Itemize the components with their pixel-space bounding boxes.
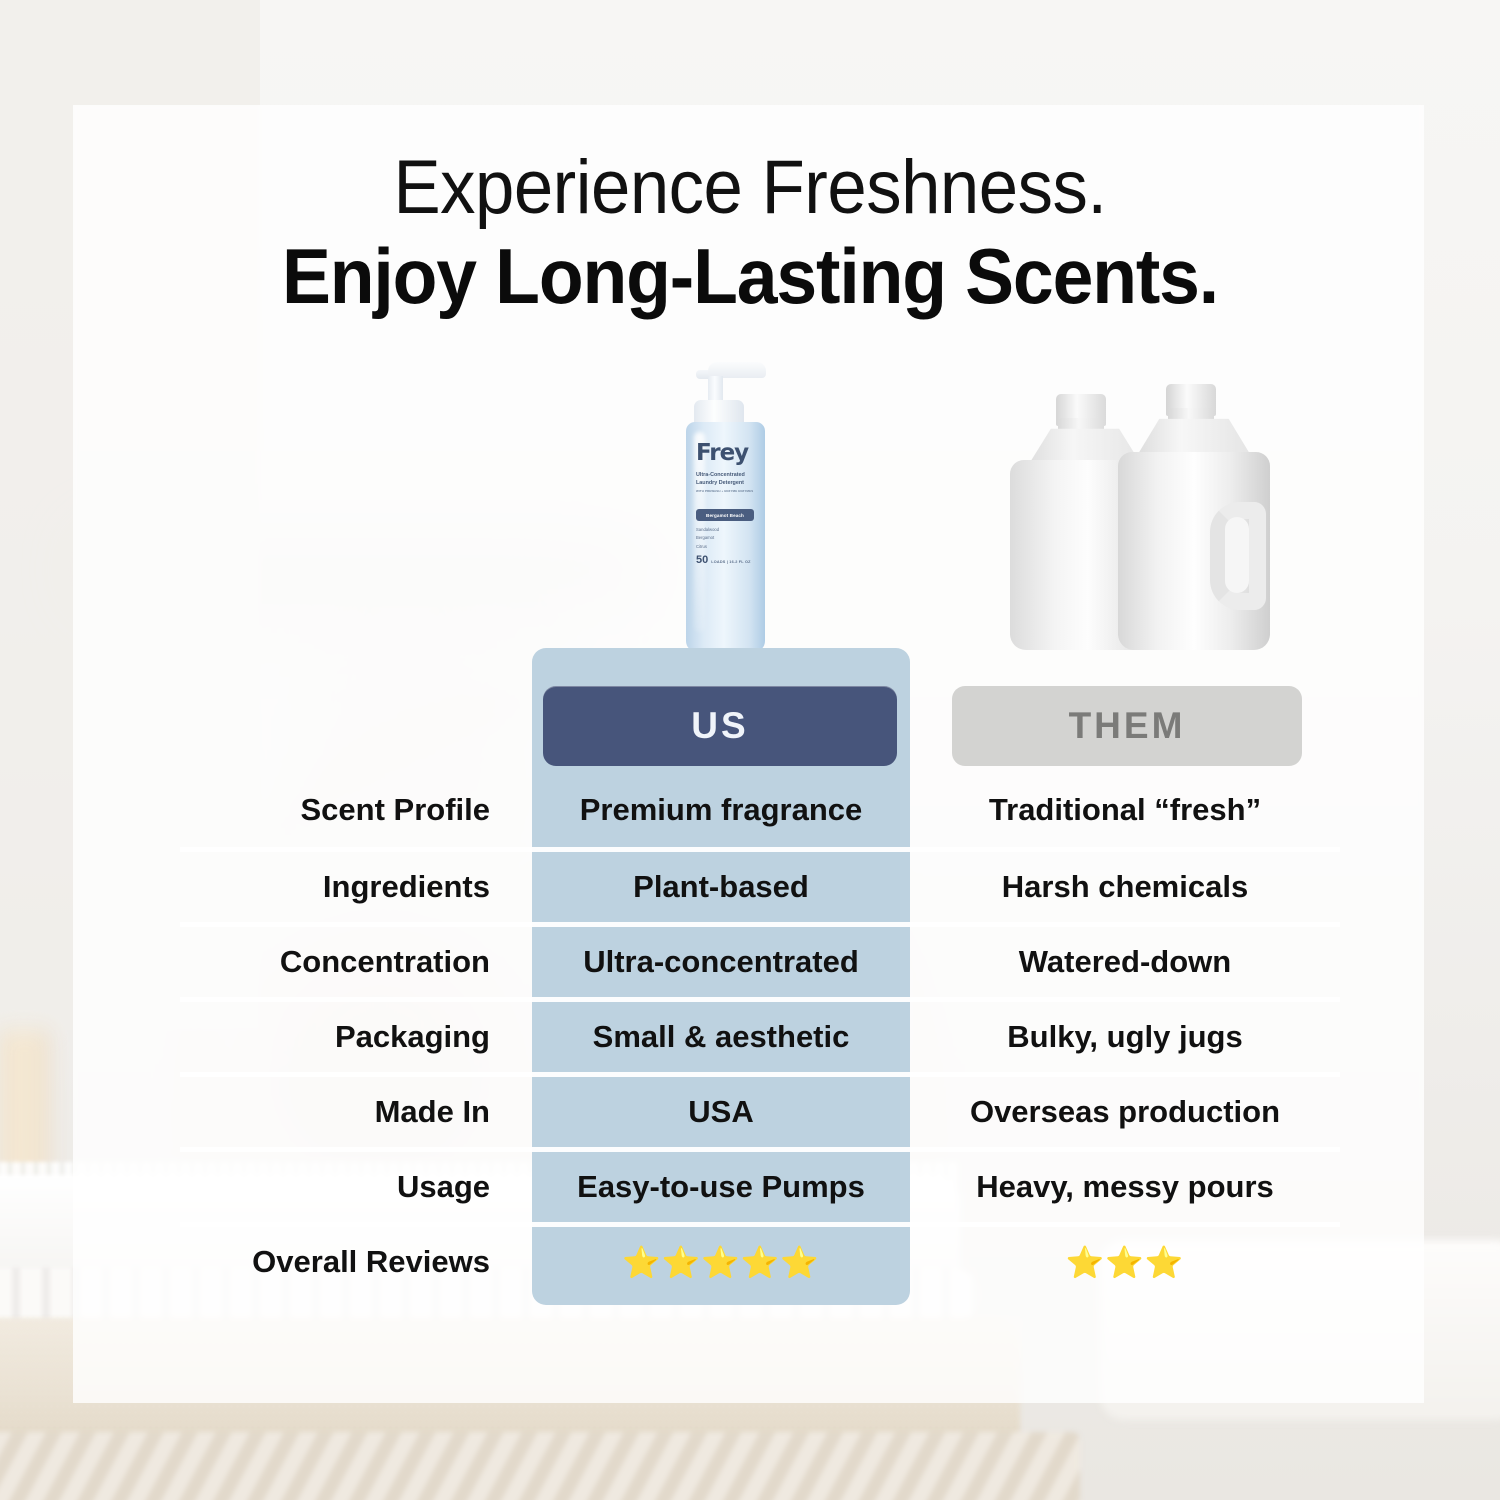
scent-notes-list: Sandalwood Bergamot Citrus: [696, 526, 719, 551]
row-label: Made In: [180, 1077, 532, 1147]
table-row: Made In USA Overseas production: [180, 1072, 1340, 1147]
row-label: Concentration: [180, 927, 532, 997]
comparison-header-row: US THEM: [180, 680, 1340, 772]
load-count: 50: [696, 554, 708, 566]
row-value-us: Easy-to-use Pumps: [532, 1152, 910, 1222]
table-row: Concentration Ultra-concentrated Watered…: [180, 922, 1340, 997]
comparison-table: US THEM Scent Profile Premium fragrance …: [180, 680, 1340, 1297]
row-value-us: Small & aesthetic: [532, 1002, 910, 1072]
frey-brand-logo: Frey: [696, 440, 748, 466]
row-value-us: Ultra-concentrated: [532, 927, 910, 997]
table-row: Usage Easy-to-use Pumps Heavy, messy pou…: [180, 1147, 1340, 1222]
row-value-us: USA: [532, 1077, 910, 1147]
volume-text: LOADS | 16.2 FL OZ: [711, 560, 750, 564]
table-row: Ingredients Plant-based Harsh chemicals: [180, 847, 1340, 922]
row-label: Scent Profile: [180, 772, 532, 847]
infographic-content: Experience Freshness. Enjoy Long-Lasting…: [0, 0, 1500, 1500]
row-value-them: Overseas production: [910, 1077, 1340, 1147]
row-label: Usage: [180, 1152, 532, 1222]
frey-bottle-image: Frey Ultra-Concentrated Laundry Detergen…: [678, 362, 773, 652]
bottle-volume: 50 LOADS | 16.2 FL OZ: [696, 554, 751, 566]
headline-line-2: Enjoy Long-Lasting Scents.: [45, 236, 1455, 318]
headline-line-1: Experience Freshness.: [53, 150, 1448, 226]
row-label: Packaging: [180, 1002, 532, 1072]
bottle-fine-print: WITH PREWASH + ENZYME ENZYMES: [696, 489, 754, 493]
competitor-jugs-image: [1010, 372, 1250, 650]
row-value-them: ⭐⭐⭐: [910, 1227, 1340, 1297]
row-label: Ingredients: [180, 852, 532, 922]
row-value-us: ⭐⭐⭐⭐⭐: [532, 1227, 910, 1297]
headline-block: Experience Freshness. Enjoy Long-Lasting…: [0, 150, 1500, 318]
table-row: Packaging Small & aesthetic Bulky, ugly …: [180, 997, 1340, 1072]
product-images-row: Frey Ultra-Concentrated Laundry Detergen…: [0, 362, 1500, 652]
star-rating-us: ⭐⭐⭐⭐⭐: [622, 1247, 820, 1278]
scent-badge: Bergamot Beach: [696, 509, 754, 521]
scent-note: Bergamot: [696, 534, 719, 542]
row-value-them: Bulky, ugly jugs: [910, 1002, 1340, 1072]
row-value-us: Premium fragrance: [532, 772, 910, 847]
row-label: Overall Reviews: [180, 1227, 532, 1297]
table-row: Scent Profile Premium fragrance Traditio…: [180, 772, 1340, 847]
row-value-them: Traditional “fresh”: [910, 772, 1340, 847]
bottle-subtitle-line-2: Laundry Detergent: [696, 480, 754, 488]
row-value-them: Watered-down: [910, 927, 1340, 997]
row-value-them: Heavy, messy pours: [910, 1152, 1340, 1222]
scent-note: Sandalwood: [696, 526, 719, 534]
header-pill-them: THEM: [952, 686, 1302, 766]
header-pill-us: US: [543, 686, 897, 766]
row-value-us: Plant-based: [532, 852, 910, 922]
table-row: Overall Reviews ⭐⭐⭐⭐⭐ ⭐⭐⭐: [180, 1222, 1340, 1297]
row-value-them: Harsh chemicals: [910, 852, 1340, 922]
bottle-subtitle: Ultra-Concentrated Laundry Detergent: [696, 472, 754, 488]
jug-handle-hole: [1225, 517, 1249, 593]
bottle-subtitle-line-1: Ultra-Concentrated: [696, 472, 754, 480]
star-rating-them: ⭐⭐⭐: [1066, 1247, 1185, 1278]
competitor-jug-front: [1118, 388, 1270, 650]
scent-note: Citrus: [696, 543, 719, 551]
